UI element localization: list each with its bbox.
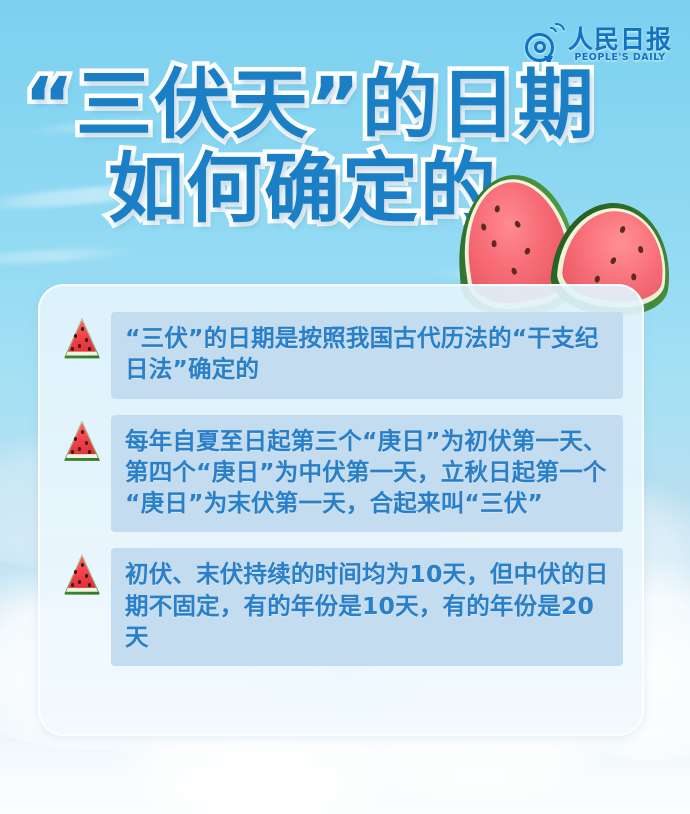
list-item-text: 每年自夏至日起第三个“庚日”为初伏第一天、第四个“庚日”为中伏第一天，立秋日起第… xyxy=(111,415,623,533)
at-signal-icon xyxy=(525,25,563,65)
list-item: 每年自夏至日起第三个“庚日”为初伏第一天、第四个“庚日”为中伏第一天，立秋日起第… xyxy=(59,415,623,533)
weibo-icon xyxy=(272,774,298,796)
poster-canvas: 人民日报 PEOPLE'S DAILY “三伏天”的日期 如何确定的 xyxy=(0,0,690,814)
weibo-watermark: @人民日报 xyxy=(0,774,690,796)
list-item-text: “三伏”的日期是按照我国古代历法的“干支纪日法”确定的 xyxy=(111,312,623,399)
peoples-daily-logo: 人民日报 PEOPLE'S DAILY xyxy=(525,25,672,65)
weibo-handle: @人民日报 xyxy=(303,774,418,796)
watermelon-slice-icon xyxy=(59,316,105,362)
list-item: 初伏、末伏持续的时间均为10天，但中伏的日期不固定，有的年份是10天，有的年份是… xyxy=(59,548,623,666)
watermelon-slice-icon xyxy=(59,552,105,598)
watermelon-slice-icon xyxy=(59,419,105,465)
list-item: “三伏”的日期是按照我国古代历法的“干支纪日法”确定的 xyxy=(59,312,623,399)
content-card: “三伏”的日期是按照我国古代历法的“干支纪日法”确定的 每年自夏至日起第三个“庚… xyxy=(38,284,644,736)
list-item-text: 初伏、末伏持续的时间均为10天，但中伏的日期不固定，有的年份是10天，有的年份是… xyxy=(111,548,623,666)
brand-name-cn: 人民日报 xyxy=(568,27,672,52)
cloud-wisp-decoration xyxy=(0,245,140,266)
page-title-line-1: “三伏天”的日期 xyxy=(0,66,690,144)
